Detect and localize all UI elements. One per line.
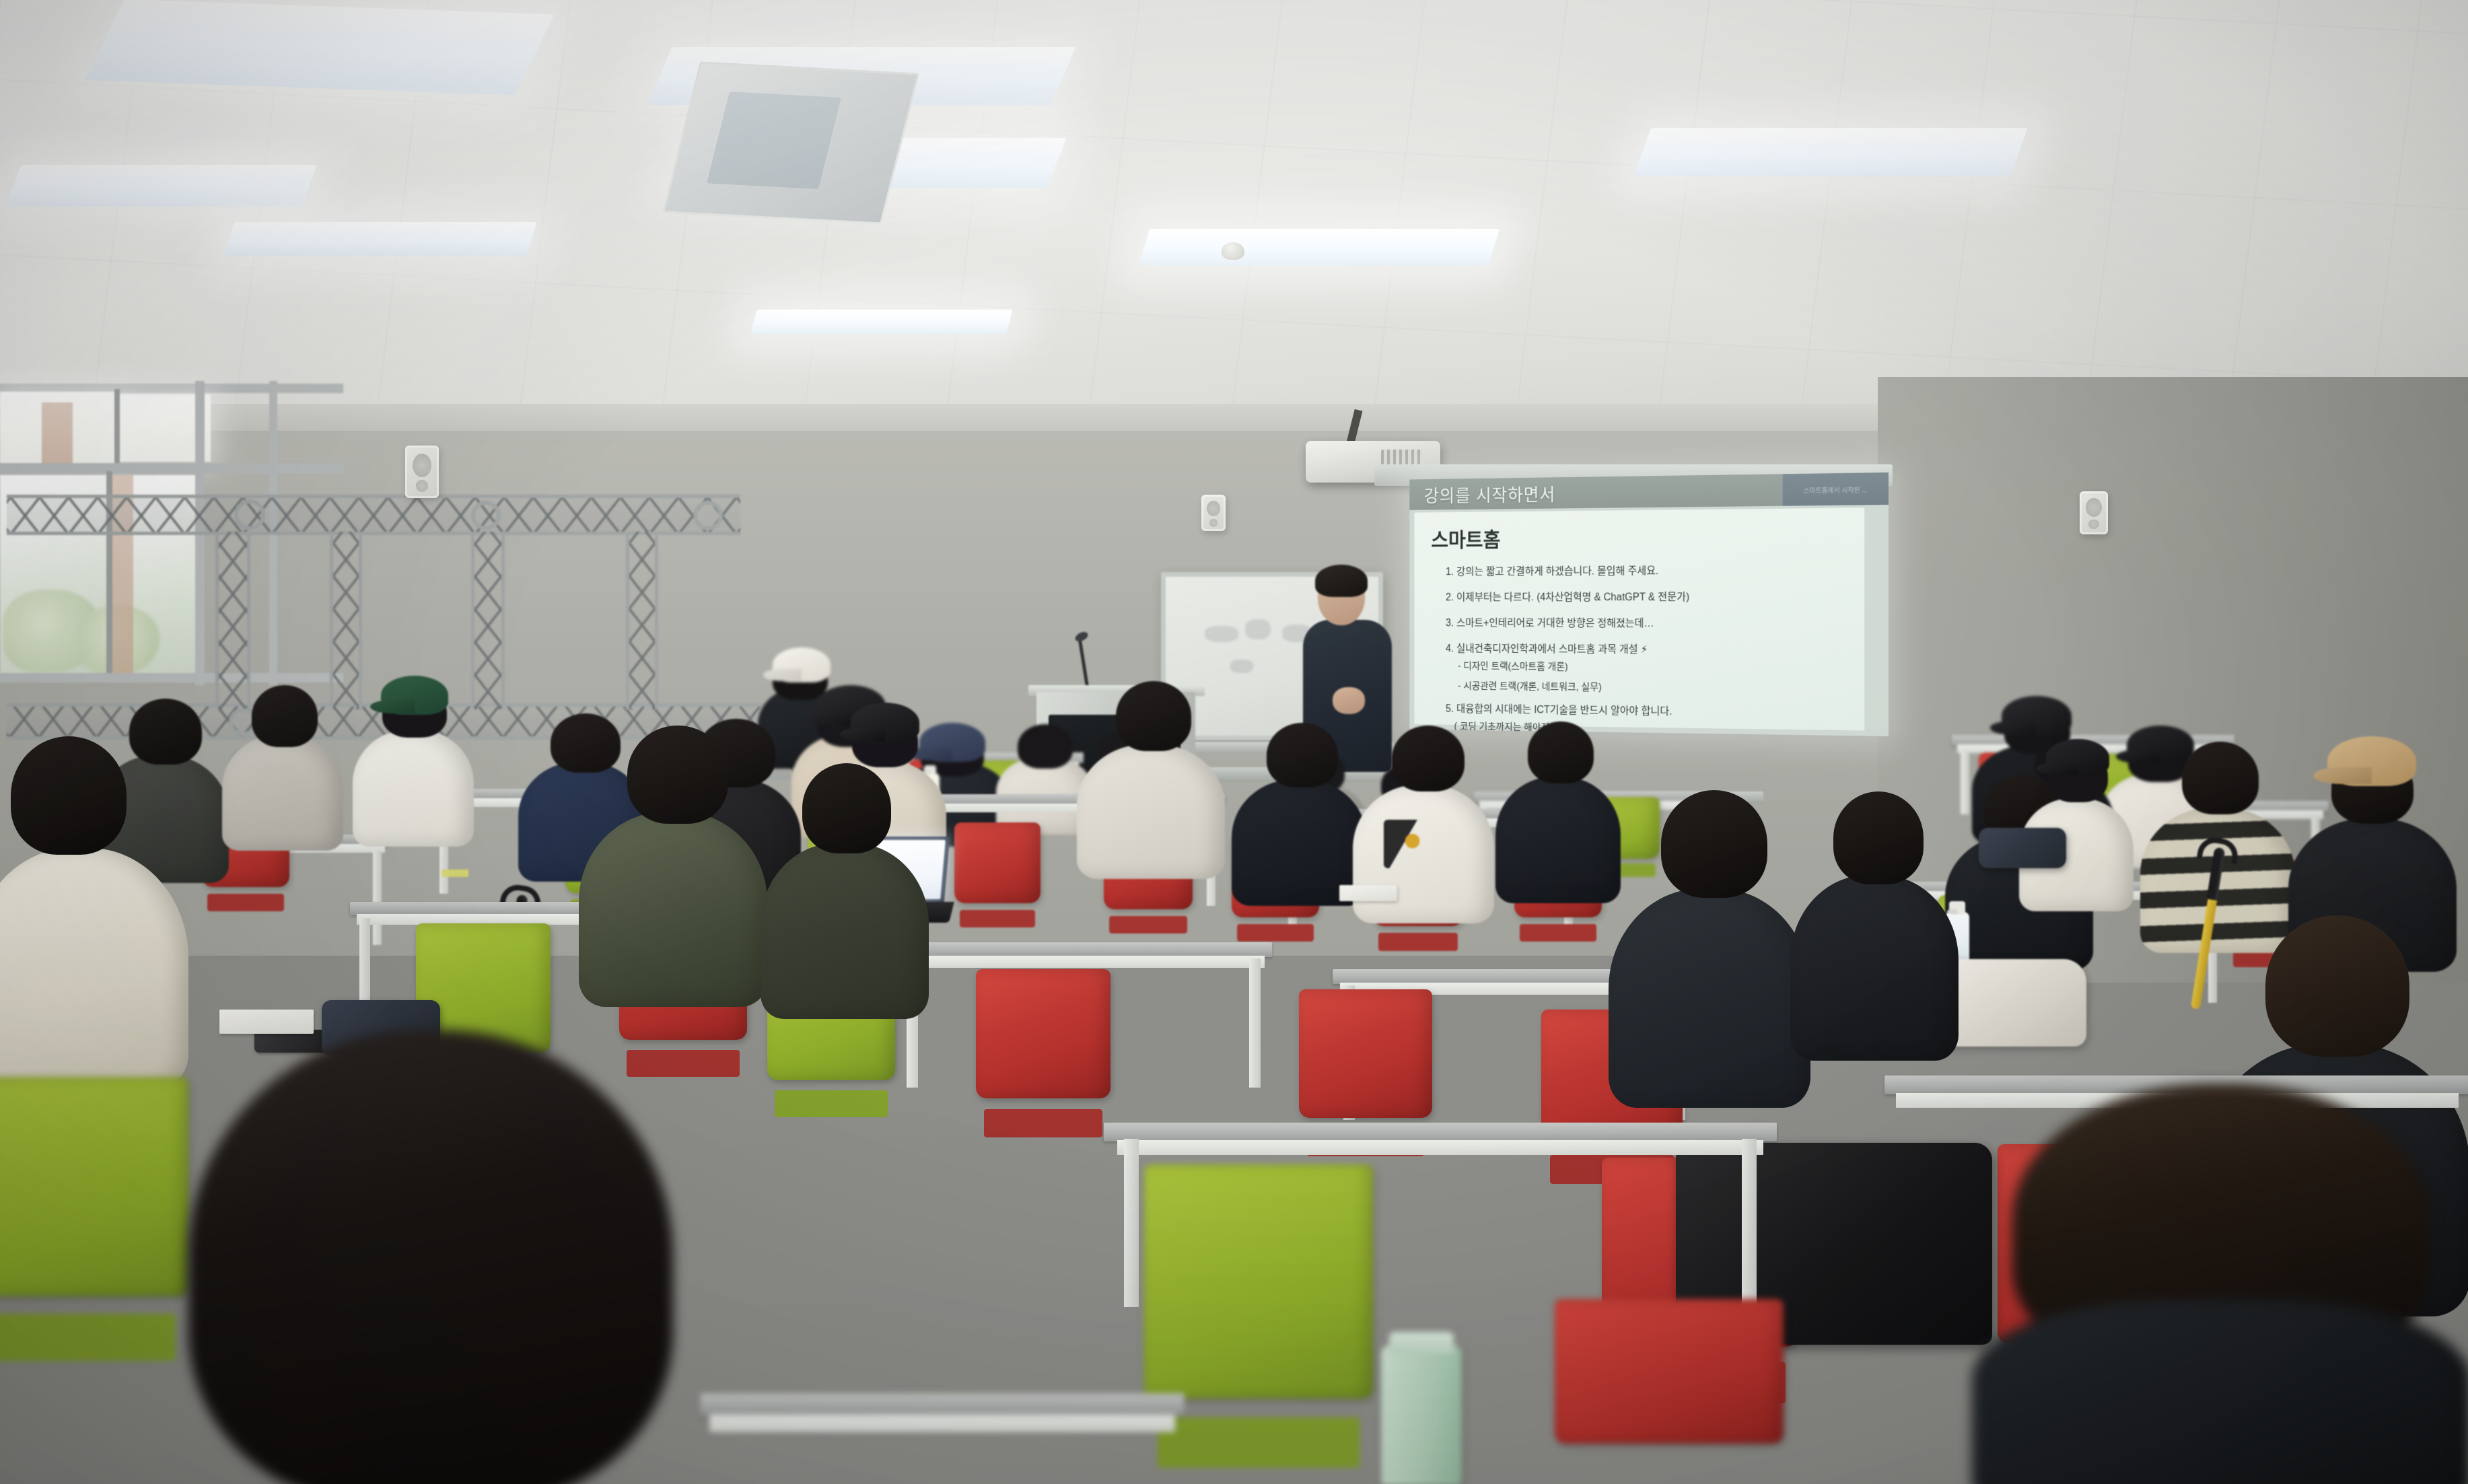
desk-foreground: [700, 1393, 1185, 1484]
green-cap: [381, 676, 448, 715]
student: [579, 720, 767, 1003]
truss-ring: [693, 501, 723, 530]
black-beanie: [851, 703, 919, 743]
chair-red-foreground: [1555, 1299, 1784, 1484]
slide-bullet-3: 3. 스마트+인테리어로 거대한 방향은 정해졌는데…: [1446, 614, 1864, 631]
ceiling-air-vent: [662, 61, 919, 224]
student: [1495, 713, 1621, 902]
white-cap: [773, 647, 831, 682]
student-foreground: [188, 1030, 673, 1484]
student: [1790, 787, 1959, 1057]
notebook: [1339, 885, 1397, 901]
student-cream-hoodie: [0, 848, 188, 1088]
student: [1609, 787, 1810, 1104]
slide-sub-bullet-1: - 디자인 트랙(스마트홈 개론): [1458, 659, 1864, 676]
chair-red: [954, 822, 1041, 931]
black-cap: [2046, 739, 2109, 777]
ceiling-light-6: [1139, 229, 1500, 265]
wall-speaker-center: [1201, 495, 1226, 531]
ceiling-light-7: [751, 310, 1013, 334]
pencil-case: [1979, 828, 2066, 868]
tan-baseball-cap: [2327, 736, 2416, 786]
chair-green-foreground: [0, 1077, 188, 1373]
student-olive-fleece: [579, 812, 767, 1007]
slide-corner-text: 스마트홈에서 시작된 ...: [1804, 484, 1868, 495]
wall-speaker-right: [2080, 491, 2108, 534]
thermos-flask: [1381, 1345, 1462, 1484]
ceiling-light-1: [85, 0, 554, 95]
student: [1077, 674, 1225, 876]
exterior-brick-wall: [42, 402, 73, 464]
student: [0, 734, 188, 1084]
slide-heading: 스마트홈: [1431, 520, 1864, 553]
truss-ring: [471, 501, 501, 530]
slide-header-title: 강의를 시작하면서: [1424, 481, 1555, 507]
student: [1232, 715, 1366, 903]
black-cap: [2002, 696, 2072, 736]
slide-bullet-1: 1. 강의는 짧고 간결하게 하겠습니다. 몰입해 주세요.: [1446, 561, 1864, 578]
presenter-hair: [1315, 565, 1368, 597]
truss-ring: [234, 499, 265, 530]
slide-bullet-2: 2. 이제부터는 다르다. (4차산업혁명 & ChatGPT & 전문가): [1446, 588, 1864, 604]
student: [222, 681, 343, 849]
student: [761, 759, 929, 1015]
slide-bullet-4: 4. 실내건축디자인학과에서 스마트홈 과목 개설 ⚡: [1446, 639, 1864, 658]
ceiling-light-5: [223, 222, 537, 256]
classroom-photo: 강의를 시작하면서 스마트홈에서 시작된 ... 스마트홈 1. 강의는 짧고 …: [0, 0, 2468, 1484]
sweatshirt-graphic: [1384, 820, 1435, 868]
wall-speaker-left: [405, 446, 439, 498]
projected-slide: 강의를 시작하면서 스마트홈에서 시작된 ... 스마트홈 1. 강의는 짧고 …: [1409, 472, 1889, 736]
ceiling-light-3: [6, 165, 318, 207]
student-foreground: [2012, 1084, 2430, 1484]
foreground-hair: [188, 1030, 673, 1484]
student: [353, 677, 474, 845]
slide-content-area: 스마트홈 1. 강의는 짧고 간결하게 하겠습니다. 몰입해 주세요. 2. 이…: [1414, 507, 1864, 730]
slide-header-corner: 스마트홈에서 시작된 ...: [1783, 472, 1889, 506]
presenter-hands: [1333, 687, 1365, 714]
slide-sub-bullet-2: - 시공관련 트랙(개론, 네트워크, 실무): [1458, 678, 1864, 696]
ceiling-light-8: [1633, 128, 2028, 176]
smoke-detector-icon: [1222, 242, 1244, 260]
student: [2019, 740, 2134, 909]
chair-red: [976, 969, 1110, 1144]
